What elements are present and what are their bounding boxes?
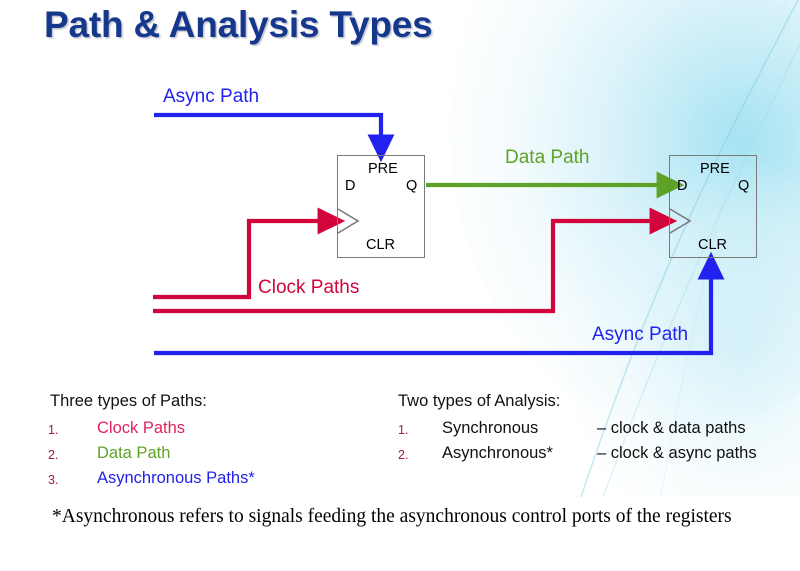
flipflop-left-pin-clr: CLR xyxy=(366,237,395,253)
flipflop-left-pin-d: D xyxy=(345,178,355,194)
slide-canvas: Path & Analysis Types xyxy=(0,0,800,571)
flipflop-left-pin-q: Q xyxy=(406,178,417,194)
label-async-path-bottom: Async Path xyxy=(592,324,688,346)
timing-path-diagram: PRE D Q CLR PRE D Q CLR Async Path Data … xyxy=(0,0,800,380)
legend-right-item-asynchronous: Asynchronous* xyxy=(442,444,553,463)
legend-left-item-clock-paths: Clock Paths xyxy=(97,419,185,438)
flipflop-right-pin-q: Q xyxy=(738,178,749,194)
legend-right-number-1: 1. xyxy=(398,423,408,437)
legend-left-item-async-paths: Asynchronous Paths* xyxy=(97,469,255,488)
legend-left-number-1: 1. xyxy=(48,423,58,437)
legend-right-detail-asynchronous: – clock & async paths xyxy=(597,444,757,463)
legend-left-heading: Three types of Paths: xyxy=(50,392,207,411)
label-clock-paths: Clock Paths xyxy=(258,277,359,299)
legend-right-number-2: 2. xyxy=(398,448,408,462)
flipflop-right-pin-pre: PRE xyxy=(700,161,730,177)
legend-left-number-3: 3. xyxy=(48,473,58,487)
legend-left-item-data-path: Data Path xyxy=(97,444,170,463)
legend-left-number-2: 2. xyxy=(48,448,58,462)
flipflop-right-pin-clr: CLR xyxy=(698,237,727,253)
flipflop-right-pin-d: D xyxy=(677,178,687,194)
legend-right-detail-synchronous: – clock & data paths xyxy=(597,419,746,438)
legend-right-heading: Two types of Analysis: xyxy=(398,392,560,411)
footnote-text: *Asynchronous refers to signals feeding … xyxy=(22,503,794,531)
legend-right-item-synchronous: Synchronous xyxy=(442,419,538,438)
flipflop-left-pin-pre: PRE xyxy=(368,161,398,177)
label-data-path: Data Path xyxy=(505,147,590,169)
wire-async-top xyxy=(154,115,381,148)
label-async-path-top: Async Path xyxy=(163,86,259,108)
